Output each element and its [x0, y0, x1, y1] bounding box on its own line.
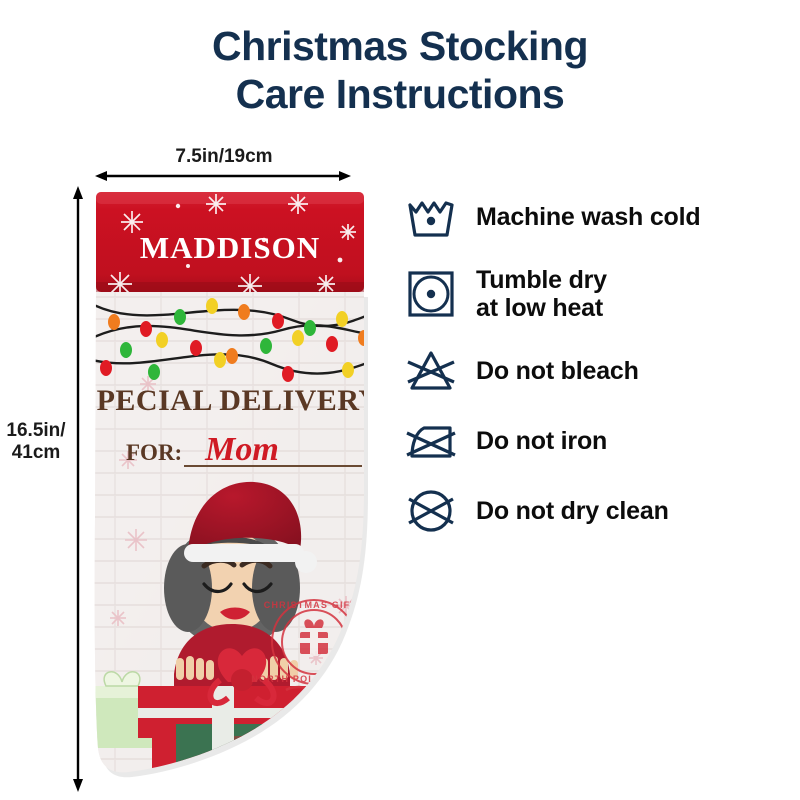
height-dimension-line1: 16.5in/	[6, 420, 65, 441]
care-label-do-not-dry-clean: Do not dry clean	[476, 497, 669, 525]
stocking-cuff: MADDISON	[96, 192, 364, 298]
height-dimension-line2: 41cm	[12, 442, 61, 463]
recipient-name: Mom	[204, 431, 279, 468]
care-row-machine-wash: Machine wash cold	[404, 182, 796, 252]
vertical-dimension-arrow	[70, 186, 86, 792]
star-gift-box	[310, 718, 376, 792]
care-label-do-not-bleach: Do not bleach	[476, 357, 639, 385]
cuff-name-text: MADDISON	[140, 230, 320, 265]
hat-brim	[184, 544, 304, 562]
care-row-do-not-bleach: Do not bleach	[404, 336, 796, 406]
height-dimension-label: 16.5in/ 41cm	[2, 420, 70, 464]
do-not-iron-icon	[404, 414, 476, 468]
stocking-product-image: SPECIAL DELIVERY FOR: Mom	[92, 188, 382, 792]
hat-pompom	[295, 551, 317, 573]
page-title-line1: Christmas Stocking	[212, 23, 588, 69]
care-label-do-not-iron: Do not iron	[476, 427, 607, 455]
plaid-gift-box	[234, 736, 330, 790]
do-not-bleach-icon	[404, 344, 476, 398]
for-label: FOR:	[126, 440, 182, 465]
width-dimension-label: 7.5in/19cm	[96, 146, 352, 168]
tumble-dry-low-icon	[404, 267, 476, 321]
care-instructions-list: Machine wash cold Tumble dry at low heat	[404, 182, 796, 546]
machine-wash-cold-icon	[404, 190, 476, 244]
care-row-tumble-dry: Tumble dry at low heat	[404, 252, 796, 336]
pink-bow	[325, 718, 366, 740]
care-label-tumble-dry: Tumble dry at low heat	[476, 266, 607, 322]
page-title-line2: Care Instructions	[0, 70, 800, 118]
green-gift-box	[176, 724, 296, 788]
stocking-body: SPECIAL DELIVERY FOR: Mom	[92, 278, 382, 792]
page-title: Christmas Stocking Care Instructions	[0, 22, 800, 119]
care-row-do-not-iron: Do not iron	[404, 406, 796, 476]
do-not-dry-clean-icon	[404, 484, 476, 538]
care-instructions-page: Christmas Stocking Care Instructions 7.5…	[0, 0, 800, 800]
care-row-do-not-dry-clean: Do not dry clean	[404, 476, 796, 546]
special-delivery-text: SPECIAL DELIVERY	[92, 384, 381, 417]
stocking-illustration: SPECIAL DELIVERY FOR: Mom	[92, 188, 382, 792]
horizontal-dimension-arrow	[95, 170, 351, 182]
care-label-machine-wash: Machine wash cold	[476, 203, 700, 231]
